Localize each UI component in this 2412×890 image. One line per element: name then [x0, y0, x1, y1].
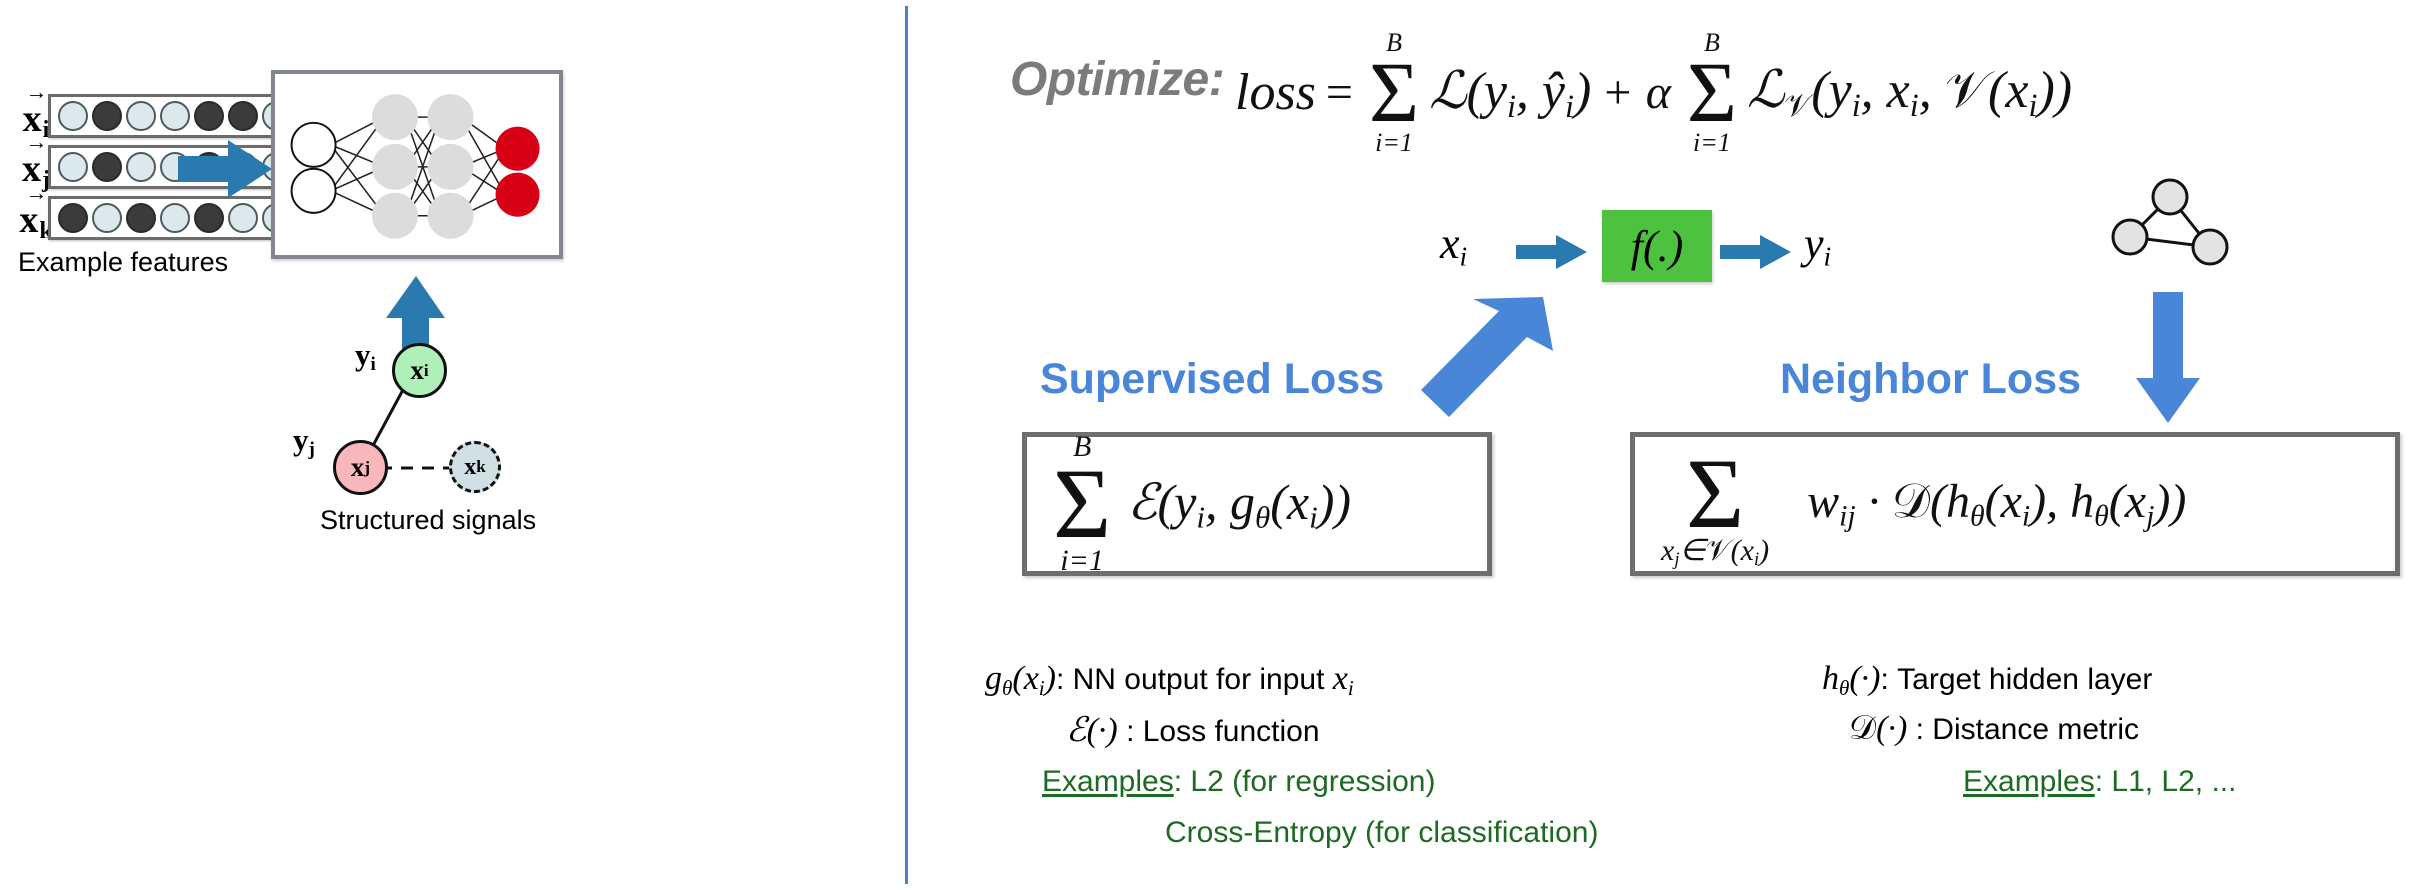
feature-dot: [126, 152, 156, 182]
graph-node-xk-sub: k: [476, 457, 485, 477]
graph-node-xi-label: x: [410, 355, 424, 386]
optimize-label: Optimize:: [1010, 52, 1224, 107]
feature-dot: [92, 152, 122, 182]
sigma-glyph: Σ: [1686, 452, 1744, 536]
neighbor-loss-term: ℒ𝒱(yi, xi, 𝒱(xi)): [1747, 60, 2072, 125]
supervised-formula-body: ℰ(yi, gθ(xi)): [1127, 473, 1351, 536]
example-features-caption: Example features: [18, 247, 228, 278]
flow-output-yi: yi: [1804, 218, 1831, 273]
supervised-legend-line-1: gθ(xi): NN output for input xi: [985, 660, 1354, 701]
nn-hidden-node: [372, 94, 418, 140]
neural-network-box: [271, 70, 563, 259]
feature-dot: [126, 101, 156, 131]
function-box-label: f(.): [1631, 221, 1684, 272]
feature-dot: [58, 101, 88, 131]
nn-hidden-node: [428, 94, 474, 140]
neighbor-loss-title: Neighbor Loss: [1780, 355, 2081, 404]
neural-network-graph: [275, 74, 559, 255]
graph-node-xi-sub: i: [424, 361, 429, 381]
nn-input-node: [292, 169, 336, 213]
triangle-graph-icon: [2110, 175, 2230, 270]
feature-vector-box-k: [48, 196, 302, 240]
feature-dot: [58, 152, 88, 182]
neighbor-branch-arrow-icon: [2135, 292, 2201, 424]
feature-dot: [58, 203, 88, 233]
supervised-loss-term: ℒ(yi, ŷi): [1429, 61, 1591, 125]
legend-text-3: : Target hidden layer: [1881, 663, 2153, 696]
feature-dot: [194, 101, 224, 131]
supervised-examples-line-1: Examples: L2 (for regression): [1042, 765, 1436, 799]
supervised-summation: B Σ i=1: [1053, 432, 1111, 576]
feature-dot: [126, 203, 156, 233]
graph-label-yi: yi: [355, 337, 376, 376]
neighbor-formula-box: Σ xj∈𝒱(xi) wij · 𝒟(hθ(xi), hθ(xj)): [1630, 432, 2400, 576]
function-box: f(.): [1602, 210, 1712, 282]
supervised-loss-title: Supervised Loss: [1040, 355, 1384, 404]
sigma-glyph: Σ: [1687, 56, 1737, 130]
feature-dot: [92, 203, 122, 233]
feature-dot: [160, 203, 190, 233]
legend-text-4: : Distance metric: [1907, 713, 2139, 746]
structured-signals-caption: Structured signals: [320, 505, 536, 536]
supervised-examples-text-1: : L2 (for regression): [1174, 765, 1436, 798]
graph-label-yj: yj: [293, 422, 315, 461]
feature-dot: [228, 101, 258, 131]
graph-node-xk: xk: [449, 441, 501, 493]
flow-input-xi: xi: [1440, 218, 1467, 273]
supervised-examples-label: Examples: [1042, 765, 1174, 798]
feature-dot: [228, 203, 258, 233]
legend-math-script-e: ℰ(·): [1066, 712, 1118, 749]
legend-math-h-theta: hθ(·): [1822, 660, 1881, 697]
panel-divider: [905, 6, 908, 884]
feature-vector-box-i: [48, 94, 302, 138]
nn-output-node: [496, 127, 540, 171]
feature-dot: [194, 203, 224, 233]
nn-hidden-node: [372, 193, 418, 239]
supervised-legend-line-2: ℰ(·) : Loss function: [1066, 710, 1320, 750]
nn-hidden-node: [428, 144, 474, 190]
sum2-lower: i=1: [1693, 130, 1731, 156]
graph-node-xi: xi: [392, 343, 447, 398]
plus-alpha: + α: [1601, 65, 1671, 120]
sigma-glyph: Σ: [1053, 462, 1111, 546]
flow-arrow-out-icon: [1720, 234, 1792, 270]
supervised-branch-arrow-icon: [1415, 295, 1555, 425]
neighbor-examples-line: Examples: L1, L2, ...: [1963, 765, 2236, 799]
nn-hidden-node: [428, 193, 474, 239]
neighbor-formula-body: wij · 𝒟(hθ(xi), hθ(xj)): [1807, 474, 2186, 533]
nn-hidden-node: [372, 144, 418, 190]
summation-2: B Σ i=1: [1687, 30, 1737, 156]
supervised-examples-line-2: Cross-Entropy (for classification): [1165, 816, 1598, 850]
nn-input-node: [292, 123, 336, 167]
loss-token: loss: [1235, 63, 1316, 122]
main-loss-equation: loss = B Σ i=1 ℒ(yi, ŷi) + α B Σ i=1 ℒ𝒱(…: [1235, 30, 2072, 156]
sigma-glyph: Σ: [1369, 56, 1419, 130]
features-to-network-arrow-icon: [178, 138, 274, 200]
neighbor-summation: Σ xj∈𝒱(xi): [1661, 438, 1769, 570]
vector-symbol-k: x: [19, 199, 38, 241]
legend-text-2: : Loss function: [1118, 715, 1320, 748]
flow-arrow-in-icon: [1516, 234, 1588, 270]
neighbor-examples-label: Examples: [1963, 765, 2095, 798]
legend-math-script-d: 𝒟: [1849, 710, 1876, 747]
neighbor-legend-line-1: hθ(·): Target hidden layer: [1822, 660, 2152, 701]
legend-math-g-theta: gθ(xi): [985, 660, 1056, 697]
graph-node-xj: xj: [333, 440, 388, 495]
neighbor-sum-lower: xj∈𝒱(xi): [1661, 536, 1769, 570]
graph-node-xk-label: x: [464, 454, 476, 481]
nn-output-node: [496, 173, 540, 217]
legend-text-1: : NN output for input: [1056, 663, 1333, 696]
neighbor-examples-text: : L1, L2, ...: [2095, 765, 2237, 798]
supervised-sum-lower: i=1: [1060, 546, 1104, 576]
neighbor-legend-line-2: 𝒟(·) : Distance metric: [1849, 710, 2139, 748]
feature-dot: [160, 101, 190, 131]
equals-sign: =: [1326, 65, 1353, 120]
supervised-formula-box: B Σ i=1 ℰ(yi, gθ(xi)): [1022, 432, 1492, 576]
graph-node-xj-sub: j: [364, 458, 370, 478]
feature-dot: [92, 101, 122, 131]
graph-node-xj-label: x: [351, 452, 365, 483]
summation-1: B Σ i=1: [1369, 30, 1419, 156]
sum1-lower: i=1: [1375, 130, 1413, 156]
